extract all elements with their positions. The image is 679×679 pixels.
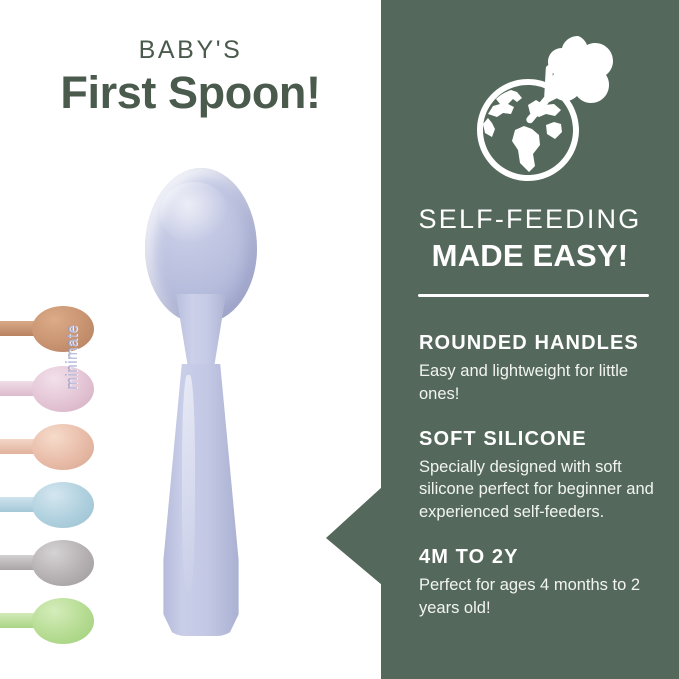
main-spoon-product (128, 168, 273, 640)
feature-title: SOFT SILICONE (419, 428, 655, 451)
feature-title: ROUNDED HANDLES (419, 332, 655, 355)
spoon-handle (161, 364, 241, 636)
headline-line-1: SELF-FEEDING (381, 206, 679, 233)
feature-item: SOFT SILICONE Specially designed with so… (419, 428, 655, 524)
swatch-spoon-green (0, 598, 94, 644)
swatch-bowl (32, 366, 94, 412)
product-infographic: BABY'S First Spoon! (0, 0, 679, 679)
page-title: BABY'S First Spoon! (0, 38, 381, 116)
globe-tree-icon (466, 22, 626, 190)
feature-title: 4M TO 2Y (419, 546, 655, 569)
feature-body: Easy and lightweight for little ones! (419, 360, 655, 406)
swatch-bowl (32, 424, 94, 470)
headline-line-2: MADE EASY! (381, 240, 679, 271)
swatch-spoon-peach (0, 424, 94, 470)
title-main: First Spoon! (0, 69, 381, 116)
feature-body: Specially designed with soft silicone pe… (419, 456, 655, 524)
swatch-spoon-gray (0, 540, 94, 586)
swatch-bowl (32, 540, 94, 586)
feature-list: ROUNDED HANDLES Easy and lightweight for… (419, 332, 655, 641)
feature-body: Perfect for ages 4 months to 2 years old… (419, 574, 655, 620)
swatch-spoon-blue (0, 482, 94, 528)
title-eyebrow: BABY'S (0, 38, 381, 63)
color-swatch-spoons (0, 300, 96, 640)
swatch-bowl (32, 306, 94, 352)
swatch-bowl (32, 598, 94, 644)
swatch-spoon-pink (0, 366, 94, 412)
feature-item: 4M TO 2Y Perfect for ages 4 months to 2 … (419, 546, 655, 620)
feature-item: ROUNDED HANDLES Easy and lightweight for… (419, 332, 655, 406)
left-panel: BABY'S First Spoon! (0, 0, 381, 679)
headline-divider (418, 294, 649, 297)
swatch-bowl (32, 482, 94, 528)
swatch-spoon-tan (0, 306, 94, 352)
